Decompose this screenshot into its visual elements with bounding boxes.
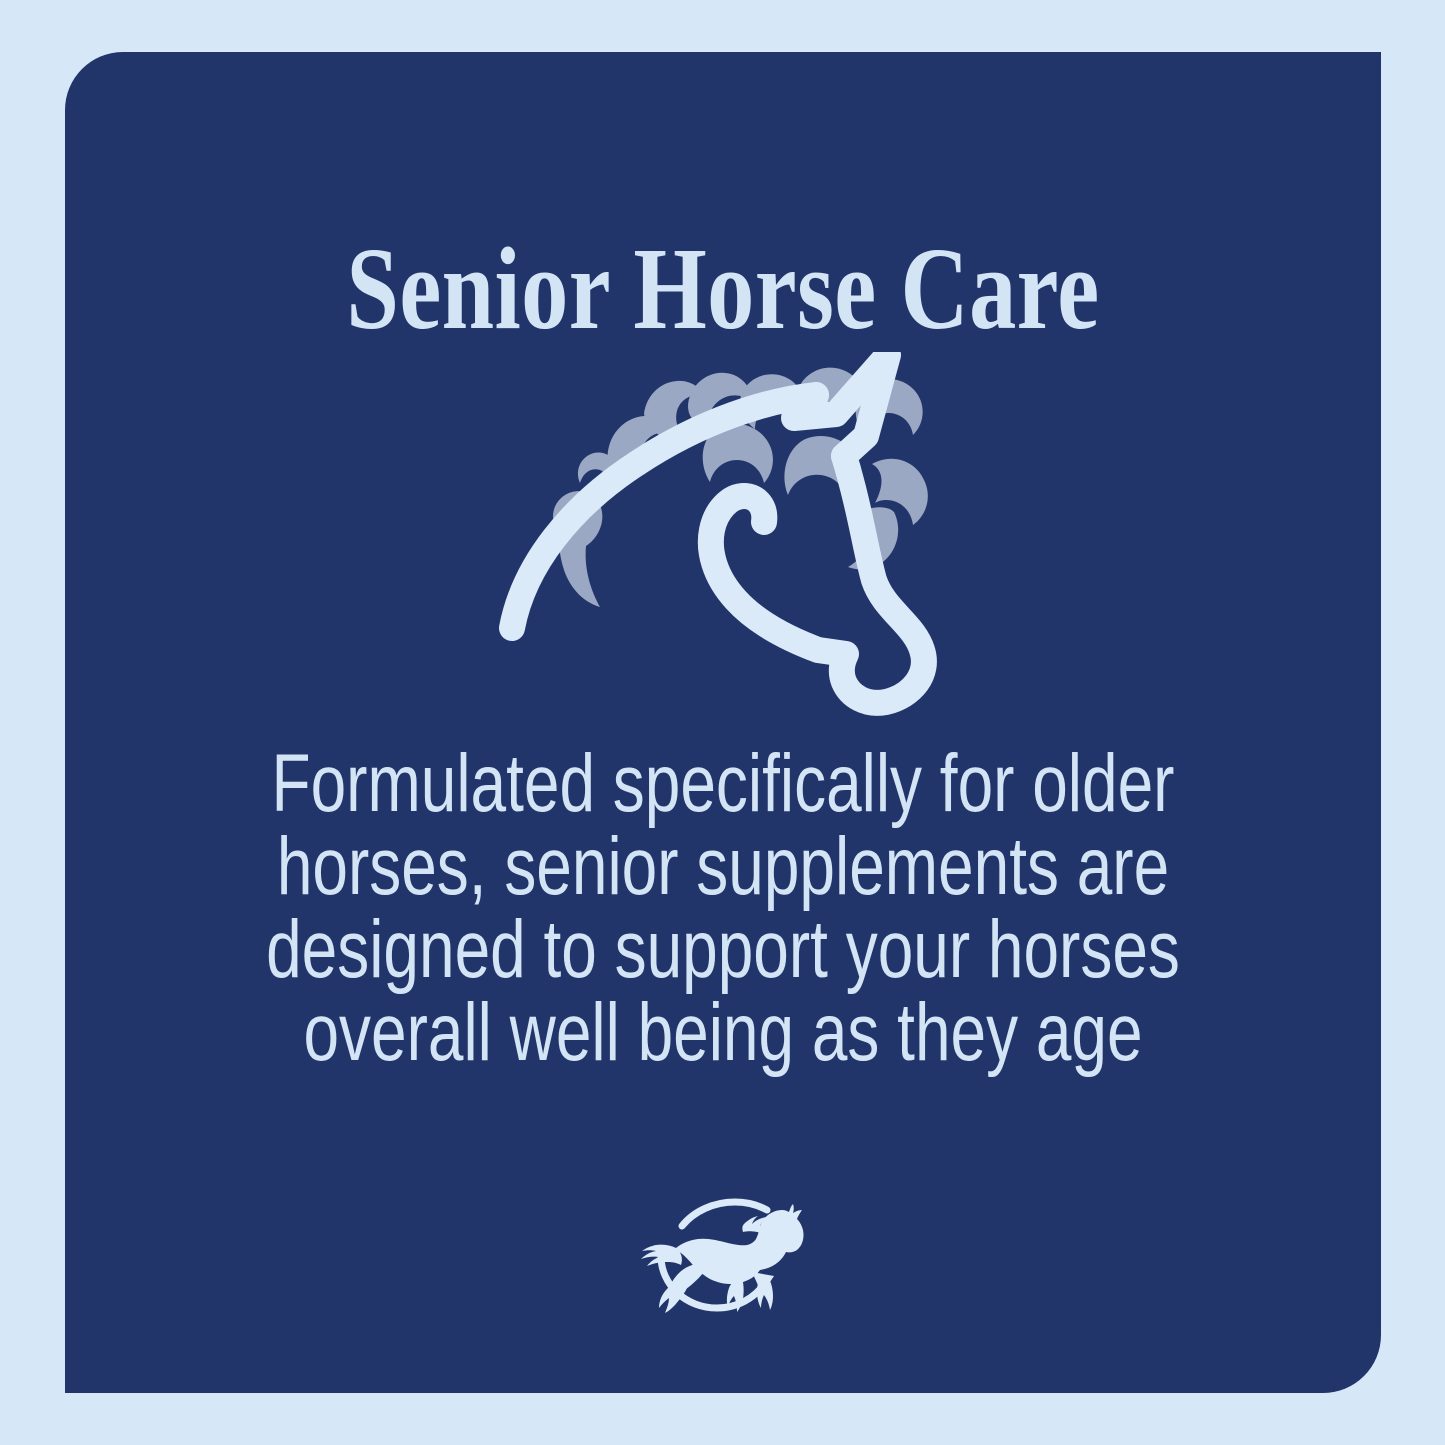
body-copy: Formulated specifically for older horses… [113, 742, 1333, 1074]
galloping-horse-circular-arrow-logo [618, 1190, 828, 1320]
body-copy-line: overall well being as they age [247, 991, 1199, 1074]
body-copy-line: designed to support your horses [247, 908, 1199, 991]
body-copy-line: Formulated specifically for older [247, 742, 1199, 825]
senior-horse-care-card: Senior Horse Care [65, 52, 1381, 1393]
horse-head-outline-icon [468, 352, 978, 737]
body-copy-line: horses, senior supplements are [247, 825, 1199, 908]
page-root: Senior Horse Care [0, 0, 1445, 1445]
page-title: Senior Horse Care [197, 230, 1250, 348]
